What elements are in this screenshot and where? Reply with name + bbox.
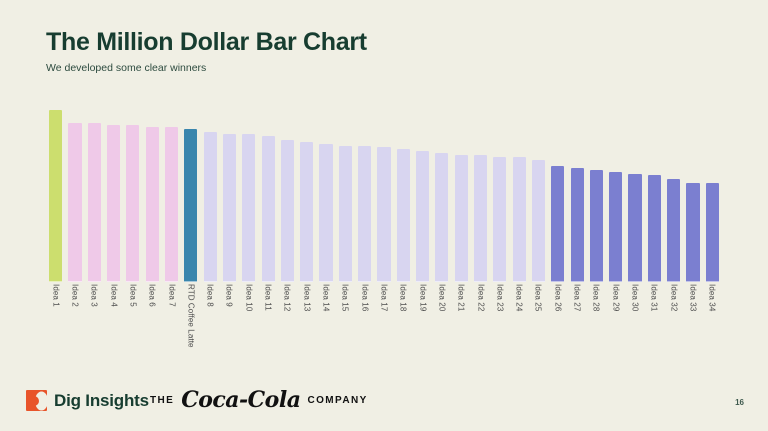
bar[interactable] [319, 144, 332, 282]
bar-slot[interactable] [143, 110, 162, 282]
x-tick-label-slot: Idea 17 [374, 284, 393, 374]
bar[interactable] [165, 127, 178, 282]
bar-slot[interactable] [471, 110, 490, 282]
bar[interactable] [88, 123, 101, 282]
bar[interactable] [358, 146, 371, 282]
x-tick-label-slot: Idea 2 [65, 284, 84, 374]
coca-cola-company: COMPANY [307, 395, 367, 406]
bar[interactable] [339, 146, 352, 282]
x-tick-label-slot: RTD Coffee Latte [181, 284, 200, 374]
bar[interactable] [648, 175, 661, 282]
x-tick-label-slot: Idea 29 [606, 284, 625, 374]
bar-slot[interactable] [297, 110, 316, 282]
dig-insights-wordmark: Dig Insights [54, 391, 149, 411]
x-tick-label-slot: Idea 7 [162, 284, 181, 374]
slide-footer: Dig Insights THE Coca-Cola COMPANY 16 [0, 373, 768, 431]
bar-slot[interactable] [374, 110, 393, 282]
bar[interactable] [667, 179, 680, 282]
bar[interactable] [204, 132, 217, 282]
bar[interactable] [300, 142, 313, 282]
bar-chart-plot-area [46, 110, 722, 282]
x-tick-label: Idea 13 [302, 284, 311, 311]
bar[interactable] [397, 149, 410, 282]
x-tick-label: Idea 27 [573, 284, 582, 311]
bar-slot[interactable] [645, 110, 664, 282]
x-tick-label: Idea 23 [495, 284, 504, 311]
bar[interactable] [590, 170, 603, 282]
page-subtitle: We developed some clear winners [46, 62, 206, 74]
bar[interactable] [609, 172, 622, 282]
x-tick-label: Idea 22 [476, 284, 485, 311]
x-tick-label: Idea 21 [457, 284, 466, 311]
bar-slot[interactable] [683, 110, 702, 282]
x-tick-label-slot: Idea 21 [452, 284, 471, 374]
x-tick-label-slot: Idea 30 [625, 284, 644, 374]
dig-insights-mark-icon [26, 390, 47, 411]
x-tick-label-slot: Idea 27 [567, 284, 586, 374]
x-tick-label-slot: Idea 25 [529, 284, 548, 374]
bar[interactable] [493, 157, 506, 282]
bar[interactable] [377, 147, 390, 282]
x-tick-label: Idea 11 [264, 284, 273, 311]
x-tick-label-slot: Idea 34 [703, 284, 722, 374]
x-tick-label: Idea 28 [592, 284, 601, 311]
x-tick-label-slot: Idea 6 [143, 284, 162, 374]
bar[interactable] [184, 129, 197, 282]
bar[interactable] [686, 183, 699, 282]
x-tick-label: Idea 19 [418, 284, 427, 311]
bar-slot[interactable] [664, 110, 683, 282]
x-tick-label-slot: Idea 20 [432, 284, 451, 374]
bar-slot[interactable] [239, 110, 258, 282]
bar-slot[interactable] [529, 110, 548, 282]
bar-slot[interactable] [104, 110, 123, 282]
x-tick-label: Idea 7 [167, 284, 176, 307]
x-tick-label-slot: Idea 5 [123, 284, 142, 374]
bar[interactable] [242, 134, 255, 282]
bar-slot[interactable] [201, 110, 220, 282]
bar[interactable] [146, 127, 159, 282]
bar-slot[interactable] [316, 110, 335, 282]
bar-slot[interactable] [85, 110, 104, 282]
x-tick-label-slot: Idea 13 [297, 284, 316, 374]
page-number: 16 [735, 398, 744, 407]
x-tick-label-slot: Idea 32 [664, 284, 683, 374]
x-tick-label: Idea 5 [128, 284, 137, 307]
x-tick-label: Idea 4 [109, 284, 118, 307]
x-tick-label-slot: Idea 10 [239, 284, 258, 374]
x-tick-label-slot: Idea 11 [258, 284, 277, 374]
x-tick-label: Idea 18 [399, 284, 408, 311]
x-tick-label: Idea 29 [611, 284, 620, 311]
bar[interactable] [628, 174, 641, 282]
x-tick-label: Idea 20 [437, 284, 446, 311]
coca-cola-the: THE [150, 395, 174, 406]
bar[interactable] [435, 153, 448, 282]
bar[interactable] [126, 125, 139, 282]
bar[interactable] [706, 183, 719, 282]
x-tick-label: Idea 9 [225, 284, 234, 307]
x-tick-label-slot: Idea 31 [645, 284, 664, 374]
slide-canvas: The Million Dollar Bar Chart We develope… [0, 0, 768, 431]
x-tick-label: Idea 24 [515, 284, 524, 311]
x-tick-label-slot: Idea 33 [683, 284, 702, 374]
bar-series [46, 110, 722, 282]
bar-slot[interactable] [587, 110, 606, 282]
bar-slot[interactable] [258, 110, 277, 282]
bar-slot[interactable] [65, 110, 84, 282]
x-tick-label: Idea 1 [51, 284, 60, 307]
x-tick-label-slot: Idea 23 [490, 284, 509, 374]
x-tick-label: Idea 6 [148, 284, 157, 307]
bar-slot[interactable] [452, 110, 471, 282]
bar[interactable] [416, 151, 429, 282]
x-tick-label-slot: Idea 14 [316, 284, 335, 374]
bar-slot[interactable] [181, 110, 200, 282]
bar-slot[interactable] [567, 110, 586, 282]
bar[interactable] [107, 125, 120, 282]
bar-slot[interactable] [432, 110, 451, 282]
bar[interactable] [68, 123, 81, 282]
bar[interactable] [551, 166, 564, 282]
bar[interactable] [281, 140, 294, 282]
bar[interactable] [571, 168, 584, 282]
bar-slot[interactable] [510, 110, 529, 282]
x-tick-label-slot: Idea 24 [510, 284, 529, 374]
x-tick-label: Idea 30 [631, 284, 640, 311]
x-tick-label-slot: Idea 3 [85, 284, 104, 374]
bar[interactable] [513, 157, 526, 282]
bar-slot[interactable] [123, 110, 142, 282]
x-tick-label: RTD Coffee Latte [186, 284, 195, 348]
dig-insights-logo: Dig Insights [26, 390, 149, 411]
x-tick-label-slot: Idea 1 [46, 284, 65, 374]
x-tick-label-slot: Idea 16 [355, 284, 374, 374]
bar-slot[interactable] [220, 110, 239, 282]
x-tick-label-slot: Idea 4 [104, 284, 123, 374]
bar-slot[interactable] [336, 110, 355, 282]
page-title: The Million Dollar Bar Chart [46, 28, 367, 57]
x-tick-label-slot: Idea 19 [413, 284, 432, 374]
x-tick-label: Idea 25 [534, 284, 543, 311]
bar[interactable] [223, 134, 236, 282]
bar-slot[interactable] [162, 110, 181, 282]
x-tick-label: Idea 15 [341, 284, 350, 311]
x-tick-label: Idea 16 [360, 284, 369, 311]
x-tick-label: Idea 31 [650, 284, 659, 311]
bar-slot[interactable] [490, 110, 509, 282]
x-tick-label-slot: Idea 12 [278, 284, 297, 374]
x-tick-label: Idea 34 [708, 284, 717, 311]
bar-slot[interactable] [606, 110, 625, 282]
bar-slot[interactable] [703, 110, 722, 282]
bar-slot[interactable] [278, 110, 297, 282]
bar-slot[interactable] [548, 110, 567, 282]
x-tick-label: Idea 12 [283, 284, 292, 311]
x-tick-label: Idea 2 [70, 284, 79, 307]
x-tick-label: Idea 26 [553, 284, 562, 311]
bar[interactable] [49, 110, 62, 282]
x-tick-label: Idea 10 [244, 284, 253, 311]
x-tick-label: Idea 3 [90, 284, 99, 307]
x-tick-label: Idea 33 [688, 284, 697, 311]
coca-cola-logo: THE Coca-Cola COMPANY [150, 389, 368, 411]
bar[interactable] [262, 136, 275, 282]
x-tick-label-slot: Idea 28 [587, 284, 606, 374]
x-tick-label-slot: Idea 18 [394, 284, 413, 374]
bar-slot[interactable] [413, 110, 432, 282]
x-tick-label: Idea 14 [322, 284, 331, 311]
bar-slot[interactable] [625, 110, 644, 282]
x-tick-label: Idea 17 [379, 284, 388, 311]
x-tick-label-slot: Idea 26 [548, 284, 567, 374]
bar[interactable] [474, 155, 487, 282]
bar[interactable] [532, 160, 545, 282]
bar-slot[interactable] [355, 110, 374, 282]
x-tick-label-slot: Idea 15 [336, 284, 355, 374]
x-tick-label: Idea 32 [669, 284, 678, 311]
x-tick-label: Idea 8 [206, 284, 215, 307]
bar[interactable] [455, 155, 468, 282]
bar-slot[interactable] [46, 110, 65, 282]
x-tick-label-slot: Idea 9 [220, 284, 239, 374]
x-tick-label-slot: Idea 22 [471, 284, 490, 374]
x-tick-label-slot: Idea 8 [201, 284, 220, 374]
x-axis-tick-labels: Idea 1Idea 2Idea 3Idea 4Idea 5Idea 6Idea… [46, 284, 722, 374]
coca-cola-script-wordmark: Coca-Cola [181, 389, 300, 411]
bar-slot[interactable] [394, 110, 413, 282]
